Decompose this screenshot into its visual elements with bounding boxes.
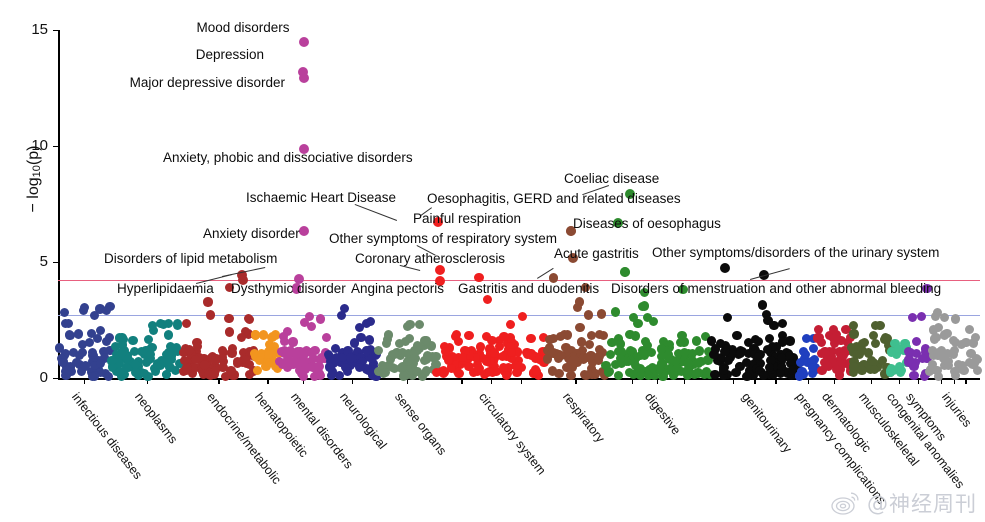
y-axis-title-prefix: − log: [25, 177, 42, 212]
scatter-point: [395, 339, 404, 348]
scatter-point: [692, 336, 701, 345]
scatter-point: [454, 337, 463, 346]
scatter-point: [346, 353, 355, 362]
scatter-point: [562, 363, 571, 372]
scatter-point: [72, 358, 81, 367]
scatter-point: [115, 333, 124, 342]
scatter-point: [422, 336, 431, 345]
scatter-point: [742, 372, 751, 381]
x-tick-mark-minor: [899, 379, 900, 384]
x-tick-mark-minor: [461, 379, 462, 384]
x-tick-mark-minor: [965, 379, 966, 384]
scatter-point: [310, 346, 319, 355]
scatter-point: [778, 319, 787, 328]
scatter-point: [929, 325, 938, 334]
scatter-point: [200, 360, 209, 369]
scatter-point: [897, 366, 906, 375]
scatter-point: [502, 371, 511, 380]
scatter-point: [933, 308, 942, 317]
category-label-neurological: neurological: [337, 390, 390, 452]
scatter-point: [601, 361, 610, 370]
y-tick-label: 15: [14, 21, 48, 38]
x-tick-mark-minor: [733, 379, 734, 384]
annotation-label: Anxiety disorder: [203, 227, 300, 241]
scatter-point: [193, 342, 202, 351]
annotation-label: Other symptoms of respiratory system: [329, 232, 557, 246]
weibo-icon: [831, 490, 861, 516]
scatter-point: [413, 341, 422, 350]
scatter-point: [499, 332, 508, 341]
scatter-point: [732, 331, 741, 340]
scatter-point: [316, 314, 325, 323]
scatter-point: [96, 359, 105, 368]
scatter-point: [569, 355, 578, 364]
scatter-point: [140, 369, 149, 378]
y-axis-title: − log10(p): [25, 79, 43, 279]
scatter-point: [904, 355, 913, 364]
scatter-point: [527, 350, 536, 359]
scatter-point: [226, 366, 235, 375]
scatter-point: [245, 315, 254, 324]
scatter-point: [694, 358, 703, 367]
scatter-point: [399, 371, 408, 380]
scatter-point: [909, 371, 918, 380]
category-label-genitourinary: genitourinary: [739, 390, 795, 456]
scatter-point: [631, 331, 640, 340]
highlighted-point: [435, 265, 445, 275]
scatter-point: [908, 313, 917, 322]
scatter-point: [398, 348, 407, 357]
scatter-point: [431, 352, 440, 361]
scatter-point: [731, 368, 740, 377]
scatter-point: [606, 350, 615, 359]
scatter-point: [736, 349, 745, 358]
leader-line: [355, 204, 397, 221]
scatter-point: [506, 320, 515, 329]
scatter-point: [131, 368, 140, 377]
plot-wrapper: − log10(p) 051015 Mood disordersDepressi…: [0, 0, 985, 522]
y-tick-mark: [53, 378, 58, 380]
leader-line: [750, 268, 790, 280]
scatter-point: [206, 310, 215, 319]
x-tick-mark-minor: [657, 379, 658, 384]
x-tick-mark-minor: [84, 379, 85, 384]
scatter-point: [307, 322, 316, 331]
scatter-point: [616, 339, 625, 348]
scatter-point: [886, 366, 895, 375]
scatter-point: [723, 313, 732, 322]
scatter-point: [858, 346, 867, 355]
scatter-point: [871, 339, 880, 348]
annotation-label: Disorders of menstruation and other abno…: [611, 282, 941, 296]
scatter-point: [237, 333, 246, 342]
scatter-point: [322, 333, 331, 342]
annotation-label: Anxiety, phobic and dissociative disorde…: [163, 151, 413, 165]
scatter-point: [164, 330, 173, 339]
scatter-point: [881, 333, 890, 342]
scatter-point: [464, 331, 473, 340]
scatter-point: [203, 297, 212, 306]
scatter-point: [957, 340, 966, 349]
y-tick-label: 10: [14, 137, 48, 154]
scatter-point: [575, 297, 584, 306]
category-label-circulatory-system: circulatory system: [476, 390, 549, 477]
annotation-label: Mood disorders: [196, 21, 289, 35]
scatter-point: [255, 356, 264, 365]
scatter-point: [117, 348, 126, 357]
annotation-label: Coronary atherosclerosis: [355, 252, 505, 266]
scatter-point: [422, 366, 431, 375]
scatter-point: [343, 367, 352, 376]
scatter-point: [289, 357, 298, 366]
scatter-point: [253, 366, 262, 375]
scatter-point: [683, 368, 692, 377]
scatter-point: [808, 363, 817, 372]
scatter-point: [374, 346, 383, 355]
scatter-point: [580, 370, 589, 379]
scatter-point: [633, 319, 642, 328]
scatter-point: [128, 336, 137, 345]
scatter-point: [795, 371, 804, 380]
category-label-infectious-diseases: infectious diseases: [69, 390, 145, 482]
category-label-injuries: injuries: [938, 390, 973, 430]
annotation-label: Ischaemic Heart Disease: [246, 191, 396, 205]
scatter-point: [548, 366, 557, 375]
scatter-point: [259, 330, 268, 339]
x-tick-mark-minor: [871, 379, 872, 384]
annotation-label: Diseases of oesophagus: [573, 217, 721, 231]
category-label-digestive: digestive: [642, 390, 683, 438]
scatter-point: [182, 365, 191, 374]
annotation-label: Dysthymic disorder: [231, 282, 346, 296]
scatter-point: [102, 337, 111, 346]
scatter-point: [584, 310, 593, 319]
y-tick-mark: [53, 30, 58, 32]
category-label-sense-organs: sense organs: [392, 390, 449, 458]
category-label-neoplasms: neoplasms: [132, 390, 180, 446]
scatter-point: [233, 357, 242, 366]
annotation-label: Other symptoms/disorders of the urinary …: [652, 246, 939, 260]
scatter-point: [102, 306, 111, 315]
scatter-point: [490, 348, 499, 357]
scatter-point: [415, 320, 424, 329]
scatter-point: [218, 363, 227, 372]
watermark: @神经周刊: [831, 488, 977, 518]
watermark-text: @神经周刊: [867, 488, 977, 518]
scatter-point: [288, 337, 297, 346]
highlighted-point: [299, 73, 309, 83]
scatter-point: [382, 339, 391, 348]
scatter-point: [942, 329, 951, 338]
y-tick-mark: [53, 146, 58, 148]
scatter-point: [951, 314, 960, 323]
y-tick-label: 0: [14, 369, 48, 386]
x-tick-mark-minor: [754, 379, 755, 384]
scatter-point: [870, 365, 879, 374]
scatter-point: [173, 321, 182, 330]
annotation-label: Acute gastritis: [554, 247, 639, 261]
y-tick-label: 5: [14, 253, 48, 270]
scatter-point: [410, 354, 419, 363]
annotation-label: Gastritis and duodenitis: [458, 282, 599, 296]
scatter-point: [971, 333, 980, 342]
highlighted-point: [299, 37, 309, 47]
scatter-point: [777, 353, 786, 362]
x-tick-mark-minor: [575, 379, 576, 384]
scatter-point: [832, 365, 841, 374]
scatter-point: [518, 312, 527, 321]
scatter-point: [88, 372, 97, 381]
scatter-point: [724, 356, 733, 365]
scatter-point: [381, 368, 390, 377]
x-tick-mark-minor: [491, 379, 492, 384]
scatter-point: [917, 312, 926, 321]
x-tick-mark-minor: [352, 379, 353, 384]
scatter-point: [636, 364, 645, 373]
scatter-point: [532, 367, 541, 376]
scatter-point: [683, 359, 692, 368]
x-tick-mark-minor: [808, 379, 809, 384]
scatter-point: [337, 311, 346, 320]
annotation-label: Coeliac disease: [564, 172, 659, 186]
scatter-point: [227, 348, 236, 357]
scatter-point: [815, 333, 824, 342]
scatter-point: [849, 329, 858, 338]
x-tick-mark-minor: [834, 379, 835, 384]
scatter-point: [64, 319, 73, 328]
scatter-point: [587, 331, 596, 340]
scatter-point: [159, 320, 168, 329]
annotation-label: Angina pectoris: [351, 282, 444, 296]
scatter-point: [365, 335, 374, 344]
annotation-label: Hyperlipidaemia: [117, 282, 214, 296]
scatter-point: [90, 311, 99, 320]
scatter-point: [695, 346, 704, 355]
scatter-point: [720, 347, 729, 356]
highlighted-point: [720, 263, 730, 273]
x-tick-mark-minor: [218, 379, 219, 384]
scatter-point: [599, 331, 608, 340]
scatter-point: [458, 353, 467, 362]
y-axis-line: [58, 30, 60, 378]
scatter-point: [356, 333, 365, 342]
annotation-label: Disorders of lipid metabolism: [104, 252, 277, 266]
scatter-point: [88, 348, 97, 357]
scatter-point: [299, 372, 308, 381]
scatter-point: [265, 358, 274, 367]
x-tick-mark-minor: [521, 379, 522, 384]
annotation-label: Oesophagitis, GERD and related diseases: [427, 192, 681, 206]
scatter-point: [305, 312, 314, 321]
scatter-point: [543, 354, 552, 363]
scatter-point: [821, 348, 830, 357]
scatter-point: [81, 361, 90, 370]
x-tick-mark-minor: [918, 379, 919, 384]
scatter-point: [758, 300, 767, 309]
y-axis-title-subscript: 10: [31, 165, 43, 177]
scatter-point: [928, 360, 937, 369]
scatter-point: [585, 340, 594, 349]
x-tick-mark-minor: [632, 379, 633, 384]
scatter-point: [754, 337, 763, 346]
y-tick-mark: [53, 262, 58, 264]
scatter-point: [641, 337, 650, 346]
category-label-respiratory: respiratory: [560, 390, 607, 445]
scatter-point: [643, 313, 652, 322]
scatter-point: [672, 364, 681, 373]
annotation-label: Major depressive disorder: [130, 76, 285, 90]
x-tick-mark-minor: [775, 379, 776, 384]
scatter-point: [309, 354, 318, 363]
annotation-label: Depression: [196, 48, 264, 62]
scatter-point: [156, 361, 165, 370]
scatter-point: [60, 308, 69, 317]
scatter-point: [405, 320, 414, 329]
scatter-point: [611, 307, 620, 316]
scatter-point: [912, 337, 921, 346]
scatter-point: [325, 362, 334, 371]
scatter-point: [364, 366, 373, 375]
x-tick-mark-minor: [267, 379, 268, 384]
scatter-point: [597, 309, 606, 318]
scatter-point: [78, 348, 87, 357]
scatter-point: [362, 319, 371, 328]
scatter-point: [575, 323, 584, 332]
highlighted-point: [620, 267, 630, 277]
scatter-point: [711, 344, 720, 353]
scatter-point: [857, 366, 866, 375]
scatter-point: [647, 348, 656, 357]
scatter-point: [483, 295, 492, 304]
scatter-point: [447, 364, 456, 373]
scatter-point: [526, 334, 535, 343]
scatter-point: [74, 329, 83, 338]
scatter-point: [657, 359, 666, 368]
scatter-point: [224, 314, 233, 323]
scatter-point: [485, 367, 494, 376]
highlighted-point: [299, 226, 309, 236]
scatter-point: [225, 328, 234, 337]
scatter-point: [182, 319, 191, 328]
scatter-point: [315, 371, 324, 380]
annotation-label: Painful respiration: [413, 212, 521, 226]
scatter-point: [62, 366, 71, 375]
phewas-manhattan-plot: − log10(p) 051015 Mood disordersDepressi…: [0, 0, 985, 522]
